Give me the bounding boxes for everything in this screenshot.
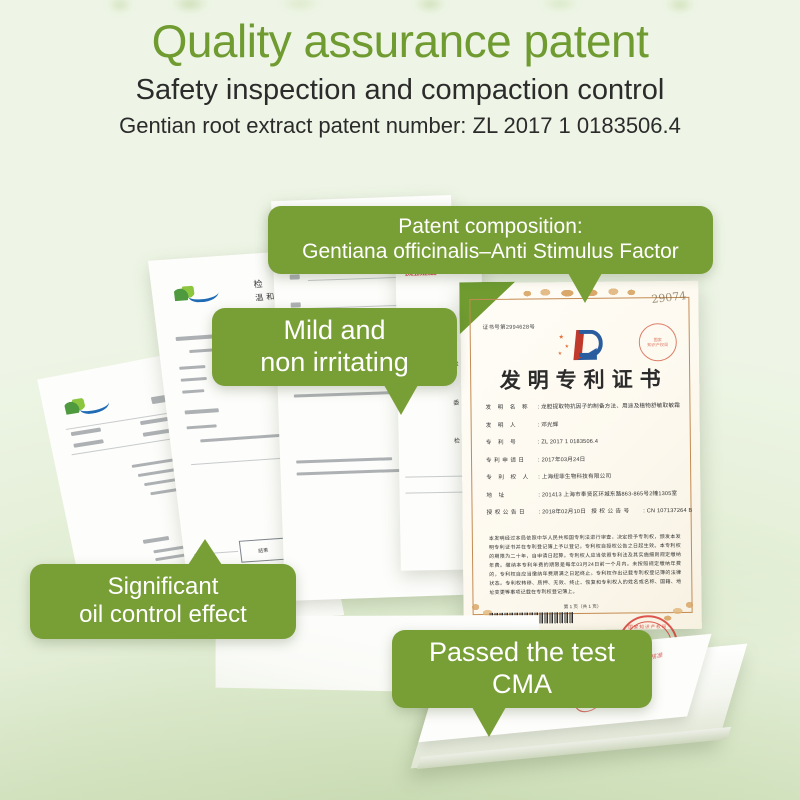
callout-text: Patent composition: Gentiana officinalis…: [268, 206, 713, 274]
patent-number-note: Gentian root extract patent number: ZL 2…: [0, 110, 800, 142]
callout-passed-test-cma[interactable]: Passed the test CMA: [392, 630, 652, 708]
callout-oil-control[interactable]: Significant oil control effect: [30, 564, 296, 639]
certificate-row: 专利申请日: 2017年03月24日: [486, 453, 682, 463]
callout-line-1: Mild and: [283, 315, 385, 345]
company-leaf-logo: [173, 284, 221, 303]
callout-line-2: Gentiana officinalis–Anti Stimulus Facto…: [302, 240, 679, 263]
certificate-row: 发 明 名 称: 龙胆提取物抗因子的制备方法、用途及植物舒敏取敏霜: [485, 401, 681, 411]
callout-text: Significant oil control effect: [30, 564, 296, 639]
callout-line-2: non irritating: [260, 347, 409, 377]
callout-pointer: [568, 273, 602, 303]
certificate-red-stamp-top: 国家知识产权局: [639, 323, 677, 361]
callout-line-1: Significant: [108, 573, 219, 600]
cnipa-logo-icon: [557, 330, 603, 360]
callout-line-1: Patent composition:: [398, 215, 582, 238]
certificate-row: 授权公告日: 2018年02月10日 授权公告号: CN 107137264 B: [487, 506, 683, 516]
company-leaf-logo: [63, 394, 112, 417]
header-block: Quality assurance patent Safety inspecti…: [0, 12, 800, 142]
callout-pointer: [384, 385, 418, 415]
certificate-title: 发明专利证书: [461, 363, 699, 395]
callout-pointer: [472, 707, 506, 737]
infographic-canvas: Quality assurance patent Safety inspecti…: [0, 0, 800, 800]
certificate-row: 专 利 号: ZL 2017 1 0183506.4: [486, 436, 682, 446]
callout-line-2: oil control effect: [79, 601, 247, 628]
certificate-row: 发 明 人: 邓光辉: [486, 418, 682, 428]
callout-mild-non-irritating[interactable]: Mild and non irritating: [212, 308, 457, 386]
callout-text: Mild and non irritating: [212, 308, 457, 386]
callout-pointer: [188, 539, 222, 565]
callout-line-1: Passed the test: [429, 637, 615, 667]
page-title: Quality assurance patent: [0, 12, 800, 70]
flow-chart-result-box: 结果: [239, 538, 288, 563]
invention-patent-certificate: 29074 证书号第2994628号 国家知识产权局 发明专利证书 发 明 名 …: [460, 281, 702, 631]
certificate-body-text: 本发明经过本局依照中华人民共和国专利法进行审查，决定授予专利权，颁发本发明专利证…: [489, 533, 682, 598]
page-subtitle: Safety inspection and compaction control: [0, 70, 800, 110]
certificate-number: 证书号第2994628号: [483, 322, 536, 331]
certificate-field-list: 发 明 名 称: 龙胆提取物抗因子的制备方法、用途及植物舒敏取敏霜 发 明 人:…: [485, 401, 682, 526]
certificate-row: 地 址: 201413 上海市奉贤区环城东路863-865号2幢1305室: [486, 488, 682, 498]
callout-line-2: CMA: [492, 669, 552, 699]
certificate-row: 专 利 权 人: 上海纽菲生物科技有限公司: [486, 471, 682, 481]
callout-text: Passed the test CMA: [392, 630, 652, 708]
callout-patent-composition[interactable]: Patent composition: Gentiana officinalis…: [268, 206, 713, 274]
